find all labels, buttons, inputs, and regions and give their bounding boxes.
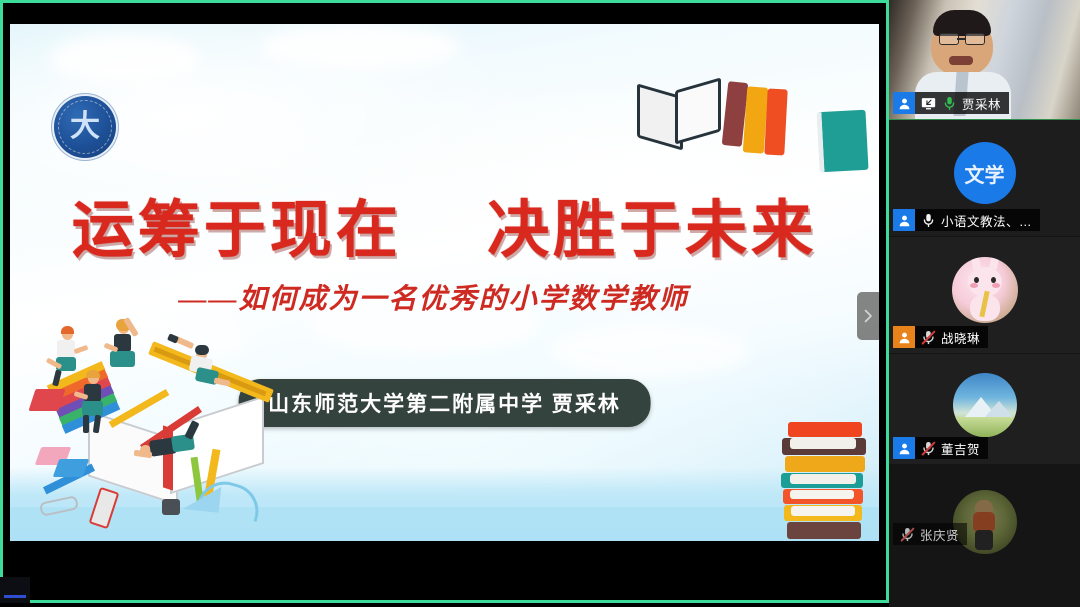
background-window-sliver[interactable] [0,577,30,603]
slide-title: 运筹于现在 决胜于未来 [10,179,879,269]
participant-icon [893,437,915,459]
participant-tile[interactable]: 战晓琳 [889,237,1080,354]
participant-name: 战晓琳 [941,328,980,347]
open-book-illustration [637,84,715,142]
chevron-right-icon [863,309,873,323]
mic-muted-icon [920,329,936,345]
participant-name: 张庆贤 [920,525,959,544]
cloud-decoration [550,324,750,378]
participant-namebar: 小语文教法、… [893,209,1040,231]
window-accent-bar [4,595,26,598]
participant-tile[interactable]: 贾采林 [889,0,1080,120]
logo-mark: 大 [70,112,100,142]
school-logo: 大 [54,96,116,158]
avatar [952,257,1018,323]
participant-name: 小语文教法、… [941,211,1032,230]
participant-tile[interactable]: 张庆贤 [889,465,1080,607]
standing-book-3 [764,89,787,156]
participant-namebar: 战晓琳 [893,326,988,348]
participant-icon [893,92,915,114]
mic-on-icon [920,212,936,228]
participant-name: 贾采林 [962,94,1001,113]
app-window: 大 运筹于现在 决胜于未来 ——如何成为一名优秀的小学数学教师 山东师范大学第二… [0,0,1080,603]
screen-share-icon [920,95,936,111]
presentation-slide[interactable]: 大 运筹于现在 决胜于未来 ——如何成为一名优秀的小学数学教师 山东师范大学第二… [10,24,879,541]
students-illustration [18,307,288,537]
participant-icon [893,326,915,348]
participant-namebar: 董吉贺 [893,437,988,459]
avatar: 文学 [954,142,1016,204]
participant-tile[interactable]: 董吉贺 [889,354,1080,465]
mic-muted-icon [899,526,915,542]
avatar [953,373,1017,437]
participant-tile[interactable]: 文学 小语文教法、… [889,120,1080,237]
closed-book-teal [816,110,868,172]
slide-title-part1: 运筹于现在 [72,193,402,266]
mic-muted-icon [920,440,936,456]
cloud-decoration [50,34,200,84]
participant-name: 董吉贺 [941,439,980,458]
participant-namebar: 贾采林 [893,92,1009,114]
mic-on-icon [941,95,957,111]
participant-icon [893,209,915,231]
participant-rail[interactable]: 贾采林 文学 小语文教法、… [889,0,1080,603]
slide-title-part2: 决胜于未来 [487,193,817,266]
cloud-decoration [260,24,460,70]
screen-share-region: 大 运筹于现在 决胜于未来 ——如何成为一名优秀的小学数学教师 山东师范大学第二… [0,0,889,603]
book-stack-illustration [778,422,874,541]
presenter-banner: 山东师范大学第二附属中学 贾采林 [238,379,651,427]
avatar-label: 文学 [954,142,1016,204]
slide-next-arrow-button[interactable] [857,292,879,340]
participant-namebar: 张庆贤 [893,523,967,545]
